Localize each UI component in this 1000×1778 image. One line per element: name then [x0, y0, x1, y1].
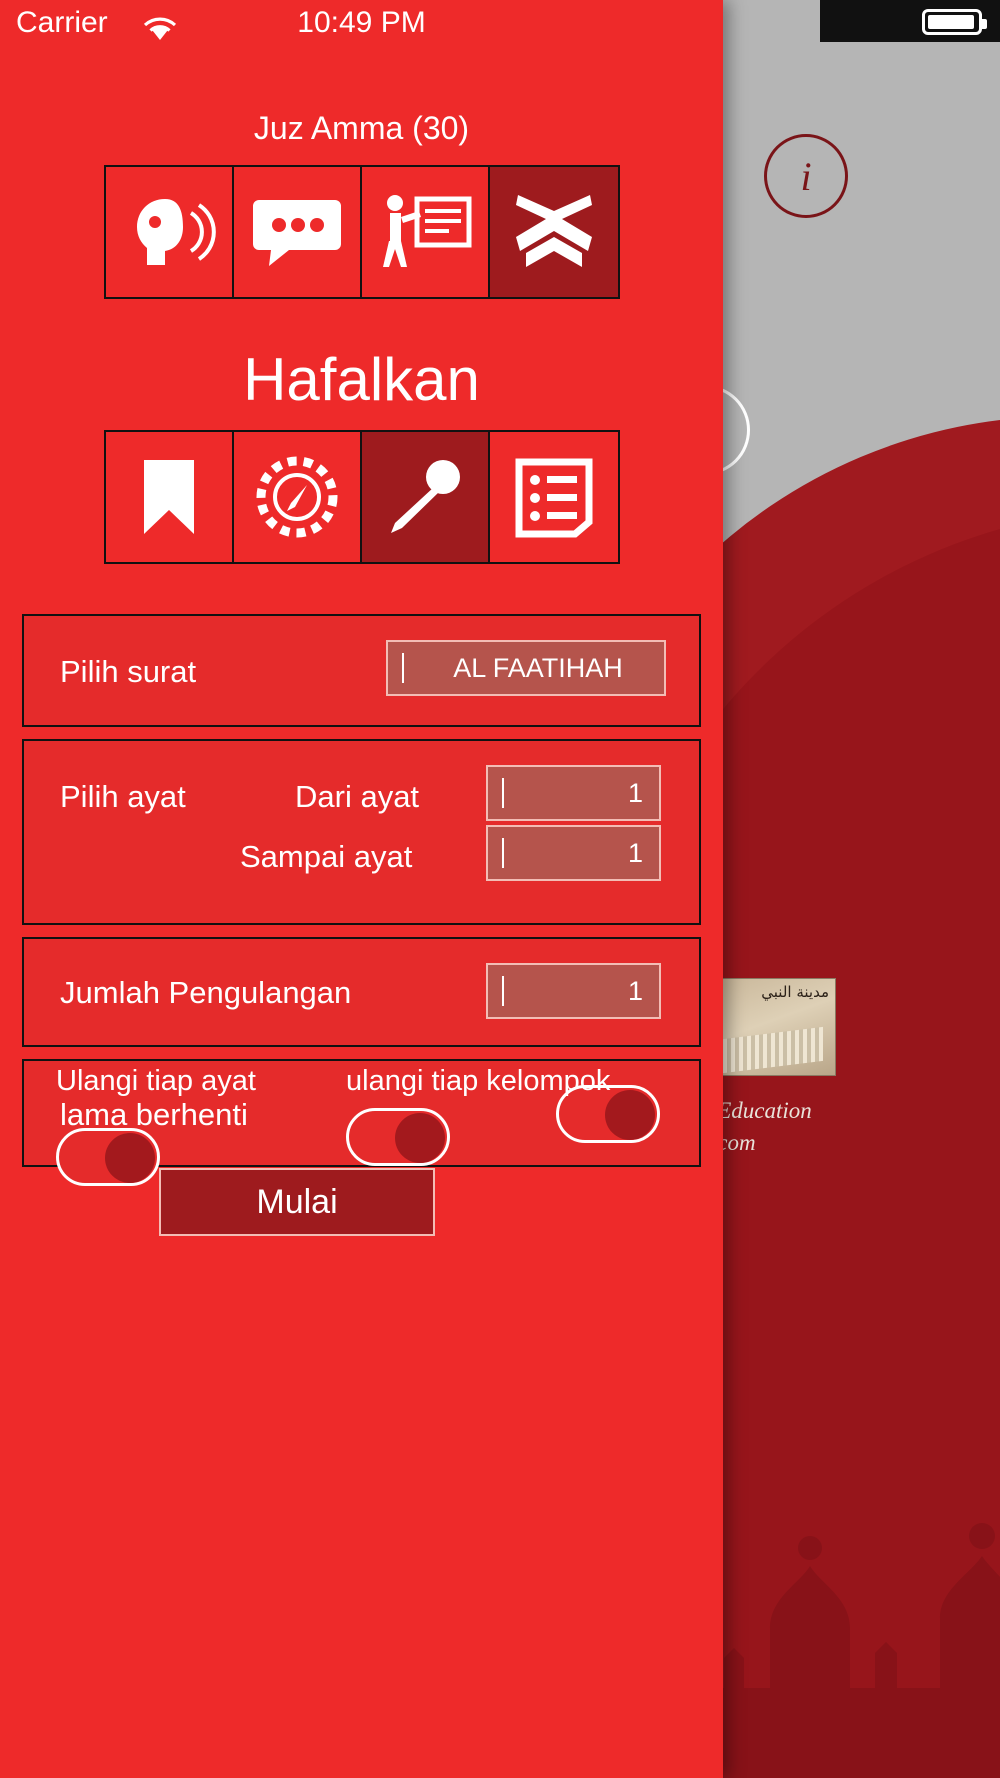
ayat-panel: Pilih ayat Dari ayat 1 Sampai ayat 1 — [22, 739, 701, 925]
tool-bookmark-button[interactable] — [106, 432, 234, 562]
bookmark-icon — [124, 452, 214, 542]
text-caret — [502, 838, 504, 868]
mode-icon-row — [104, 165, 620, 299]
surah-label: Pilih surat — [60, 654, 196, 690]
page-title: Juz Amma (30) — [0, 110, 723, 147]
info-button-label: i — [800, 153, 811, 200]
teacher-board-icon — [375, 189, 475, 275]
from-ayat-input[interactable]: 1 — [486, 765, 661, 821]
ayat-label: Pilih ayat — [60, 779, 186, 815]
pronunciation-icon — [121, 189, 217, 275]
text-caret — [502, 778, 504, 808]
mosque-skyline-icon — [700, 1478, 1000, 1778]
repeat-each-group-toggle[interactable] — [346, 1108, 450, 1166]
toggle-knob — [395, 1113, 445, 1163]
memorization-drawer: Carrier 10:49 PM Juz Amma (30) — [0, 0, 723, 1778]
status-bar: Carrier 10:49 PM — [0, 0, 723, 52]
tool-icon-row — [104, 430, 620, 564]
repeat-count-input[interactable]: 1 — [486, 963, 661, 1019]
start-button-label: Mulai — [256, 1183, 337, 1222]
mode-discussion-button[interactable] — [234, 167, 362, 297]
list-icon — [509, 452, 599, 542]
book-pages-graphic — [723, 1027, 823, 1073]
book-thumbnail[interactable]: مدينة النبي — [712, 978, 836, 1076]
tool-compass-button[interactable] — [234, 432, 362, 562]
surah-input[interactable]: AL FAATIHAH — [386, 640, 666, 696]
text-caret — [502, 976, 504, 1006]
from-ayat-value: 1 — [512, 778, 659, 809]
to-ayat-label: Sampai ayat — [240, 839, 412, 875]
chat-bubble-icon — [249, 192, 345, 272]
repeat-count-label: Jumlah Pengulangan — [60, 975, 351, 1011]
repeat-count-value: 1 — [512, 976, 659, 1007]
repeat-each-group-label: ulangi tiap kelompok — [346, 1065, 610, 1098]
section-title: Hafalkan — [0, 345, 723, 414]
battery-icon — [922, 9, 982, 35]
toggle-knob — [105, 1133, 155, 1183]
surah-value: AL FAATIHAH — [412, 653, 664, 684]
text-caret — [402, 653, 404, 683]
compass-icon — [251, 451, 343, 543]
microphone-icon — [379, 451, 471, 543]
from-ayat-label: Dari ayat — [295, 779, 419, 815]
to-ayat-value: 1 — [512, 838, 659, 869]
info-button[interactable]: i — [764, 134, 848, 218]
repeat-count-panel: Jumlah Pengulangan 1 — [22, 937, 701, 1047]
thumbnail-arabic-text: مدينة النبي — [761, 983, 829, 1001]
mode-teaching-button[interactable] — [362, 167, 490, 297]
to-ayat-input[interactable]: 1 — [486, 825, 661, 881]
tool-microphone-button[interactable] — [362, 432, 490, 562]
repeat-each-ayat-toggle[interactable] — [56, 1128, 160, 1186]
start-button[interactable]: Mulai — [159, 1168, 435, 1236]
repeat-each-ayat-label: Ulangi tiap ayat — [56, 1065, 256, 1098]
mode-quran-button[interactable] — [490, 167, 618, 297]
toggle-knob — [605, 1090, 655, 1140]
tool-list-button[interactable] — [490, 432, 618, 562]
battery-fill — [928, 15, 974, 29]
open-quran-icon — [506, 189, 602, 275]
clock-label: 10:49 PM — [0, 6, 723, 40]
surah-panel: Pilih surat AL FAATIHAH — [22, 614, 701, 727]
mode-pronunciation-button[interactable] — [106, 167, 234, 297]
